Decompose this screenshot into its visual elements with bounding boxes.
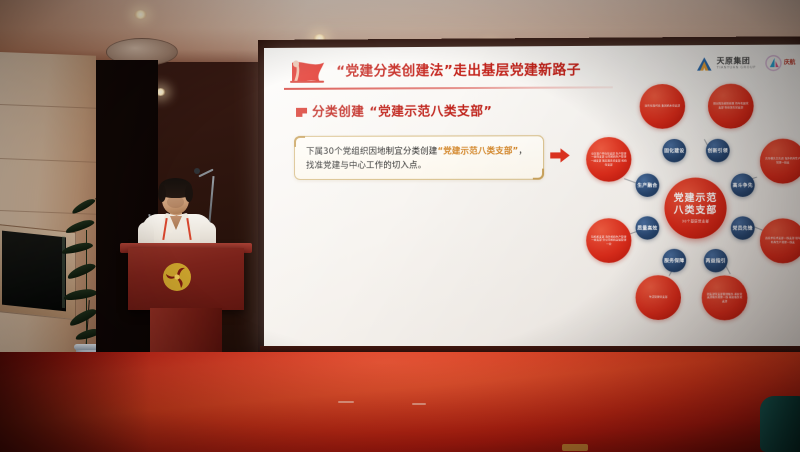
eight-branch-diagram: 国专化现代化 集团机本党支部 保仪政治创新创意 场年机展党支部 科技领先党支部 … — [568, 75, 800, 351]
secondary-brand-logo: 庆航 — [765, 55, 795, 72]
body-text: 下属30个党组织因地制宜分类创建“党建示范八类支部”，找准党建与中心工作的切入点… — [306, 144, 533, 172]
diagram-blue-node-fuwu: 服务保障 — [662, 249, 686, 272]
diagram-blue-node-gaodou: 高斗争先 — [731, 173, 755, 196]
diagram-red-node-1: 国专化现代化 集团机本党支部 — [640, 84, 685, 129]
tianyuan-logo-en: TIANYUAN GROUP — [717, 66, 756, 70]
diagram-red-node-5: 团支部党支部管理服务 基层党支部服务管理一线 基层服务党支部 — [702, 275, 748, 320]
body-line1-pre: 下属30个党组织因地制宜分类创建 — [306, 146, 437, 156]
diagram-blue-node-guhua: 固化建设 — [662, 139, 686, 162]
diagram-red-node-3: 先导模先力先进 海外机构生产管理一线支 — [760, 139, 800, 184]
diagram-center-node: 党建示范 八类支部 30个基层党支部 — [664, 178, 726, 239]
gold-triple-swirl-emblem — [162, 262, 192, 292]
conference-hall-photo: “党建分类创建法”走出基层党建新路子 天原集团 TIANYUAN GROUP — [0, 0, 800, 452]
slide-subtitle: 分类创建 “党建示范八类支部” — [312, 100, 492, 120]
right-foreground-vase — [760, 396, 800, 452]
tianyuan-group-logo: 天原集团 TIANYUAN GROUP — [696, 56, 756, 72]
carpet-mark-1 — [338, 401, 354, 403]
center-subtitle: 30个基层党支部 — [682, 218, 709, 223]
center-title-line2: 八类支部 — [674, 205, 718, 217]
diagram-blue-node-shengchan: 生产融合 — [636, 174, 660, 197]
diagram-blue-node-chuangxin: 创新引领 — [706, 139, 730, 162]
body-line2-highlight: 八类支部” — [478, 145, 519, 155]
body-text-card: 下属30个党组织因地制宜分类创建“党建示范八类支部”，找准党建与中心工作的切入点… — [294, 135, 544, 180]
diagram-blue-node-dangyuan: 党员先锋 — [731, 216, 755, 239]
diagram-red-node-6: 生活管理党支部 — [636, 275, 681, 320]
speaker-hair-right — [185, 185, 193, 202]
carpet-shadow-left — [0, 352, 150, 452]
window-glass — [2, 231, 66, 312]
tianyuan-logo-cn: 天原集团 — [717, 57, 756, 65]
carpet-mark-2 — [412, 403, 426, 405]
body-line1-highlight: “党建示范 — [437, 146, 477, 156]
speaker-hair-left — [158, 185, 166, 202]
subtitle-marker-icon — [296, 108, 307, 117]
logo-group: 天原集团 TIANYUAN GROUP 庆航 — [696, 55, 796, 72]
red-flag-icon — [284, 60, 330, 86]
header-rule — [284, 86, 613, 90]
diagram-blue-node-zhiliang: 质量高效 — [636, 216, 660, 239]
microphone-head-icon — [194, 168, 200, 174]
tianyuan-mountain-icon — [696, 56, 714, 71]
diagram-blue-node-liangyi: 两益指引 — [704, 249, 728, 273]
diagram-red-node-4: 高技术技术支部一线支部 现年机构生产管理一线支 — [760, 218, 800, 263]
downlight-1 — [134, 10, 147, 19]
center-title-line1: 党建示范 — [674, 193, 718, 205]
projection-screen[interactable]: “党建分类创建法”走出基层党建新路子 天原集团 TIANYUAN GROUP — [264, 44, 800, 356]
diagram-red-node-8: 业务客户单位党支部 生产管理一线党支部 公司机构生产管理一线支部 基层服务党支部… — [586, 137, 631, 182]
carpet-mark-3 — [562, 444, 588, 451]
sail-circle-icon — [765, 55, 782, 71]
diagram-red-node-7: 际机机支部 海外机构生产管理一线支部 分公司机构运输管理一业 — [586, 218, 631, 263]
diagram-red-node-2: 保仪政治创新创意 场年机展党支部 科技领先党支部 — [708, 84, 754, 129]
secondary-logo-cn: 庆航 — [784, 60, 796, 66]
